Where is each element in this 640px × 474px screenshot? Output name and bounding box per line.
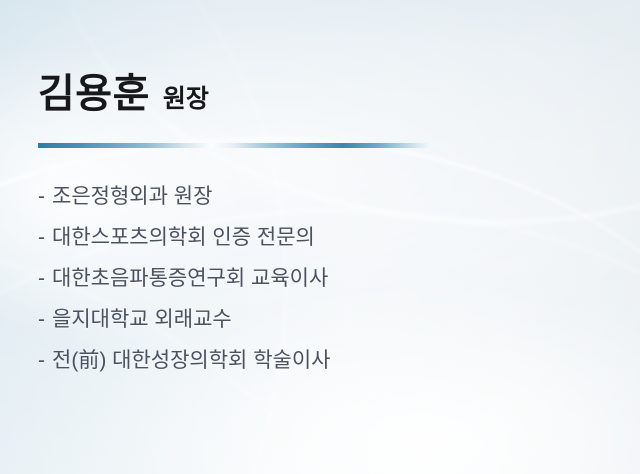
list-item-label: 조은정형외과 원장 <box>52 186 212 207</box>
list-item-label: 전(前) 대한성장의학회 학술이사 <box>52 350 331 371</box>
list-item-label: 을지대학교 외래교수 <box>52 309 232 330</box>
title-divider-line <box>38 143 450 148</box>
list-item: - 대한초음파통증연구회 교육이사 <box>38 268 598 289</box>
bullet-dash-marker: - <box>38 309 52 330</box>
credentials-list: - 조은정형외과 원장 - 대한스포츠의학회 인증 전문의 - 대한초음파통증연… <box>38 186 598 371</box>
bullet-dash-marker: - <box>38 350 52 371</box>
list-item: - 조은정형외과 원장 <box>38 186 598 207</box>
person-role: 원장 <box>163 87 209 112</box>
slide-title: 김용훈 원장 <box>38 74 209 114</box>
list-item: - 을지대학교 외래교수 <box>38 309 598 330</box>
presentation-slide: 김용훈 원장 - 조은정형외과 원장 - 대한스포츠의학회 인증 전문의 - 대… <box>0 0 640 474</box>
slide-content: 김용훈 원장 - 조은정형외과 원장 - 대한스포츠의학회 인증 전문의 - 대… <box>0 0 640 474</box>
list-item: - 대한스포츠의학회 인증 전문의 <box>38 227 598 248</box>
bullet-dash-marker: - <box>38 186 52 207</box>
bullet-dash-marker: - <box>38 227 52 248</box>
person-name: 김용훈 <box>38 74 150 114</box>
list-item-label: 대한스포츠의학회 인증 전문의 <box>52 227 315 248</box>
bullet-dash-marker: - <box>38 268 52 289</box>
list-item-label: 대한초음파통증연구회 교육이사 <box>52 268 328 289</box>
list-item: - 전(前) 대한성장의학회 학술이사 <box>38 350 598 371</box>
